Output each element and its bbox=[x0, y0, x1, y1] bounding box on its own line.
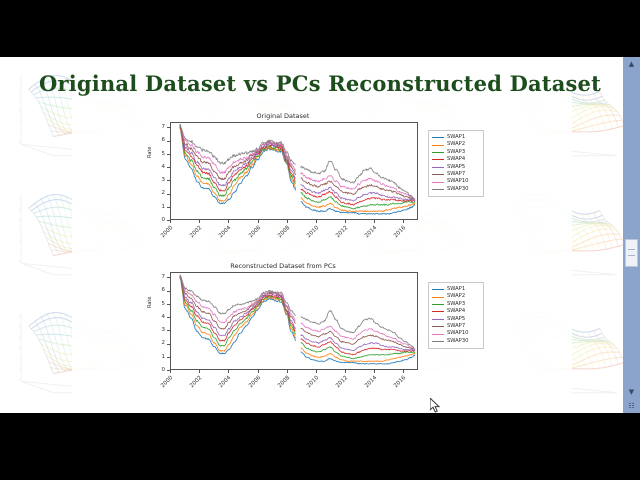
legend-color-swatch bbox=[432, 289, 444, 290]
y-tick-label: 2 bbox=[156, 340, 165, 346]
plot-area-original bbox=[170, 122, 418, 220]
x-tick-mark bbox=[345, 370, 346, 373]
legend-color-swatch bbox=[432, 311, 444, 312]
legend-item[interactable]: SWAP30 bbox=[432, 338, 479, 345]
x-tick-label: 2008 bbox=[273, 375, 291, 393]
legend-label: SWAP10 bbox=[447, 178, 468, 185]
legend-label: SWAP10 bbox=[447, 330, 468, 337]
y-tick-mark bbox=[167, 317, 170, 318]
legend-item[interactable]: SWAP1 bbox=[432, 286, 479, 293]
x-tick-mark bbox=[258, 370, 259, 373]
legend-color-swatch bbox=[432, 304, 444, 305]
x-tick-label: 2008 bbox=[273, 225, 291, 243]
chart-title-original: Original Dataset bbox=[148, 112, 418, 120]
y-tick-mark bbox=[167, 344, 170, 345]
chart-title-reconstructed: Reconstructed Dataset from PCs bbox=[148, 262, 418, 270]
legend-label: SWAP30 bbox=[447, 186, 468, 193]
x-tick-label: 2006 bbox=[243, 375, 261, 393]
legend-color-swatch bbox=[432, 137, 444, 138]
legend-label: SWAP3 bbox=[447, 149, 465, 156]
x-tick-mark bbox=[199, 220, 200, 223]
x-tick-label: 2002 bbox=[185, 375, 203, 393]
x-tick-mark bbox=[316, 220, 317, 223]
legend-reconstructed[interactable]: SWAP1SWAP2SWAP3SWAP4SWAP5SWAP7SWAP10SWAP… bbox=[428, 282, 484, 349]
x-tick-label: 2016 bbox=[389, 375, 407, 393]
legend-label: SWAP7 bbox=[447, 171, 465, 178]
x-tick-mark bbox=[228, 220, 229, 223]
legend-item[interactable]: SWAP4 bbox=[432, 156, 479, 163]
legend-item[interactable]: SWAP10 bbox=[432, 330, 479, 337]
x-tick-label: 2004 bbox=[214, 375, 232, 393]
x-tick-label: 2016 bbox=[389, 225, 407, 243]
x-tick-label: 2014 bbox=[360, 225, 378, 243]
legend-item[interactable]: SWAP4 bbox=[432, 308, 479, 315]
y-tick-mark bbox=[167, 127, 170, 128]
legend-label: SWAP2 bbox=[447, 141, 465, 148]
x-tick-label: 2012 bbox=[331, 225, 349, 243]
plot-area-reconstructed bbox=[170, 272, 418, 370]
legend-item[interactable]: SWAP7 bbox=[432, 323, 479, 330]
mouse-cursor-icon bbox=[430, 398, 442, 414]
y-tick-mark bbox=[167, 141, 170, 142]
legend-color-swatch bbox=[432, 174, 444, 175]
legend-item[interactable]: SWAP2 bbox=[432, 141, 479, 148]
legend-label: SWAP4 bbox=[447, 156, 465, 163]
legend-label: SWAP1 bbox=[447, 134, 465, 141]
y-tick-mark bbox=[167, 291, 170, 292]
chart-reconstructed-dataset: Reconstructed Dataset from PCs Rate 0123… bbox=[148, 262, 492, 410]
y-tick-mark bbox=[167, 194, 170, 195]
y-tick-label: 1 bbox=[156, 354, 165, 360]
y-tick-mark bbox=[167, 330, 170, 331]
scroll-down-arrow-icon[interactable]: ▼ bbox=[623, 385, 640, 399]
scrollbar-thumb[interactable] bbox=[625, 239, 638, 267]
y-tick-label: 6 bbox=[156, 137, 165, 143]
legend-item[interactable]: SWAP3 bbox=[432, 301, 479, 308]
x-tick-mark bbox=[374, 370, 375, 373]
legend-label: SWAP5 bbox=[447, 316, 465, 323]
y-tick-label: 0 bbox=[156, 367, 165, 373]
legend-item[interactable]: SWAP7 bbox=[432, 171, 479, 178]
x-tick-mark bbox=[403, 220, 404, 223]
x-tick-mark bbox=[199, 370, 200, 373]
y-tick-mark bbox=[167, 180, 170, 181]
legend-label: SWAP5 bbox=[447, 164, 465, 171]
y-axis-label-reconstructed: Rate bbox=[147, 297, 153, 308]
x-tick-mark bbox=[374, 220, 375, 223]
y-tick-mark bbox=[167, 357, 170, 358]
y-tick-mark bbox=[167, 304, 170, 305]
legend-color-swatch bbox=[432, 341, 444, 342]
slide-content-area: Original Dataset vs PCs Reconstructed Da… bbox=[0, 57, 640, 413]
legend-item[interactable]: SWAP5 bbox=[432, 164, 479, 171]
legend-label: SWAP3 bbox=[447, 301, 465, 308]
y-tick-label: 3 bbox=[156, 177, 165, 183]
x-tick-mark bbox=[287, 220, 288, 223]
legend-item[interactable]: SWAP2 bbox=[432, 293, 479, 300]
x-tick-mark bbox=[403, 370, 404, 373]
x-tick-mark bbox=[287, 370, 288, 373]
x-tick-mark bbox=[258, 220, 259, 223]
chart-original-dataset: Original Dataset Rate 012345672000200220… bbox=[148, 112, 492, 257]
x-tick-label: 2010 bbox=[302, 375, 320, 393]
legend-label: SWAP30 bbox=[447, 338, 468, 345]
legend-color-swatch bbox=[432, 152, 444, 153]
y-tick-label: 4 bbox=[156, 314, 165, 320]
vertical-scrollbar[interactable]: ▲ ▼ ☷ bbox=[623, 57, 640, 413]
x-tick-label: 2010 bbox=[302, 225, 320, 243]
y-tick-label: 2 bbox=[156, 190, 165, 196]
x-tick-mark bbox=[345, 220, 346, 223]
legend-label: SWAP2 bbox=[447, 293, 465, 300]
screen: Original Dataset vs PCs Reconstructed Da… bbox=[0, 0, 640, 480]
legend-color-swatch bbox=[432, 297, 444, 298]
y-tick-mark bbox=[167, 277, 170, 278]
x-tick-label: 2000 bbox=[156, 225, 174, 243]
legend-color-swatch bbox=[432, 334, 444, 335]
legend-label: SWAP1 bbox=[447, 286, 465, 293]
y-tick-label: 3 bbox=[156, 327, 165, 333]
legend-label: SWAP4 bbox=[447, 308, 465, 315]
y-tick-mark bbox=[167, 167, 170, 168]
legend-item[interactable]: SWAP10 bbox=[432, 178, 479, 185]
legend-color-swatch bbox=[432, 167, 444, 168]
x-tick-label: 2006 bbox=[243, 225, 261, 243]
x-tick-mark bbox=[170, 220, 171, 223]
y-axis-label-original: Rate bbox=[147, 147, 153, 158]
y-tick-label: 6 bbox=[156, 287, 165, 293]
legend-item[interactable]: SWAP30 bbox=[432, 186, 479, 193]
y-tick-label: 7 bbox=[156, 274, 165, 280]
page-title: Original Dataset vs PCs Reconstructed Da… bbox=[0, 71, 640, 96]
legend-color-swatch bbox=[432, 326, 444, 327]
x-tick-mark bbox=[316, 370, 317, 373]
legend-label: SWAP7 bbox=[447, 323, 465, 330]
x-tick-label: 2004 bbox=[214, 225, 232, 243]
y-tick-mark bbox=[167, 207, 170, 208]
y-tick-label: 7 bbox=[156, 124, 165, 130]
legend-color-swatch bbox=[432, 319, 444, 320]
x-tick-label: 2002 bbox=[185, 225, 203, 243]
legend-color-swatch bbox=[432, 159, 444, 160]
legend-color-swatch bbox=[432, 182, 444, 183]
y-tick-label: 5 bbox=[156, 151, 165, 157]
y-tick-label: 4 bbox=[156, 164, 165, 170]
split-view-icon[interactable]: ☷ bbox=[623, 399, 640, 413]
legend-color-swatch bbox=[432, 189, 444, 190]
y-tick-label: 1 bbox=[156, 204, 165, 210]
x-tick-label: 2014 bbox=[360, 375, 378, 393]
x-tick-mark bbox=[228, 370, 229, 373]
x-tick-label: 2012 bbox=[331, 375, 349, 393]
x-tick-label: 2000 bbox=[156, 375, 174, 393]
y-tick-mark bbox=[167, 154, 170, 155]
legend-color-swatch bbox=[432, 145, 444, 146]
y-tick-label: 0 bbox=[156, 217, 165, 223]
x-tick-mark bbox=[170, 370, 171, 373]
legend-original[interactable]: SWAP1SWAP2SWAP3SWAP4SWAP5SWAP7SWAP10SWAP… bbox=[428, 130, 484, 197]
scroll-up-arrow-icon[interactable]: ▲ bbox=[623, 57, 640, 71]
legend-item[interactable]: SWAP3 bbox=[432, 149, 479, 156]
legend-item[interactable]: SWAP5 bbox=[432, 316, 479, 323]
y-tick-label: 5 bbox=[156, 301, 165, 307]
legend-item[interactable]: SWAP1 bbox=[432, 134, 479, 141]
